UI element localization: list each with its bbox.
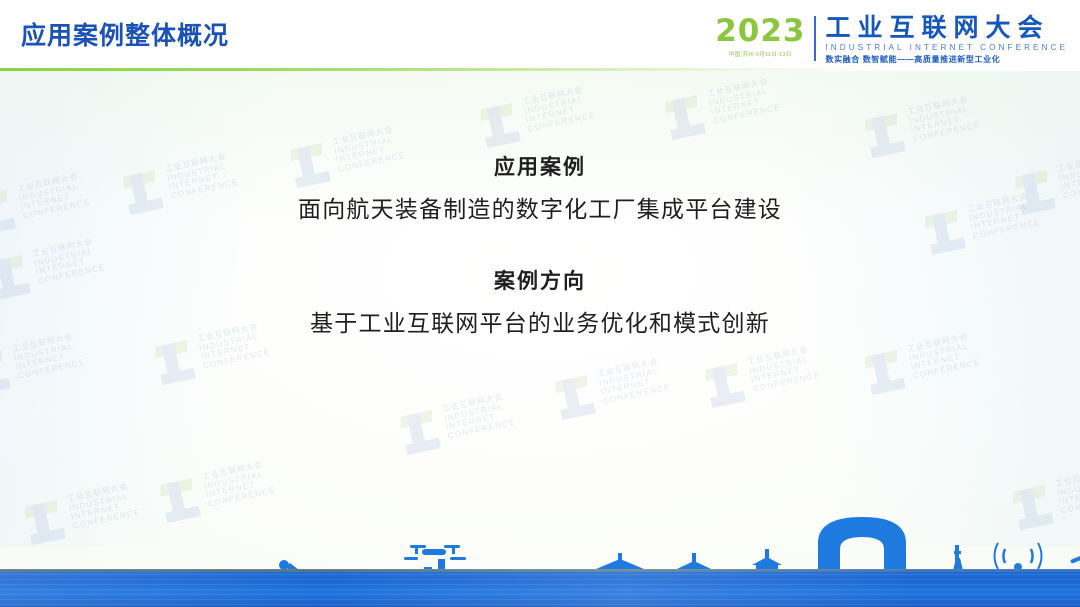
page-title: 应用案例整体概况 (21, 16, 229, 52)
direction-block: 案例方向 基于工业互联网平台的业务优化和模式创新 (0, 264, 1080, 346)
conference-logo: 2023 中国·苏州 9月11日-13日 工业互联网大会 INDUSTRIAL … (715, 14, 1068, 65)
logo-date: 中国·苏州 9月11日-13日 (729, 49, 792, 57)
case-block: 应用案例 面向航天装备制造的数字化工厂集成平台建设 (0, 150, 1080, 232)
content-spacer (0, 242, 1080, 264)
header-divider-green (0, 68, 1080, 71)
slide-root: 工业互联网大会 INDUSTRIAL INTERNET CONFERENCE 工… (0, 0, 1080, 607)
direction-value: 基于工业互联网平台的业务优化和模式创新 (0, 300, 1080, 346)
logo-name-cn: 工业互联网大会 (825, 14, 1068, 42)
case-label: 应用案例 (0, 150, 1080, 186)
direction-label: 案例方向 (0, 264, 1080, 300)
slide-header: 应用案例整体概况 2023 中国·苏州 9月11日-13日 工业互联网大会 IN… (0, 0, 1080, 68)
case-value: 面向航天装备制造的数字化工厂集成平台建设 (0, 186, 1080, 232)
logo-year: 2023 (715, 14, 805, 48)
skyline-footer (0, 487, 1080, 607)
logo-name-en: INDUSTRIAL INTERNET CONFERENCE (825, 43, 1068, 52)
slide-content: 应用案例 面向航天装备制造的数字化工厂集成平台建设 案例方向 基于工业互联网平台… (0, 150, 1080, 356)
logo-slogan: 数实融合 数智赋能——高质量推进新型工业化 (825, 54, 1068, 65)
water-sheen (0, 569, 1080, 607)
logo-name-block: 工业互联网大会 INDUSTRIAL INTERNET CONFERENCE 数… (816, 14, 1068, 65)
logo-year-block: 2023 中国·苏州 9月11日-13日 (715, 14, 814, 58)
